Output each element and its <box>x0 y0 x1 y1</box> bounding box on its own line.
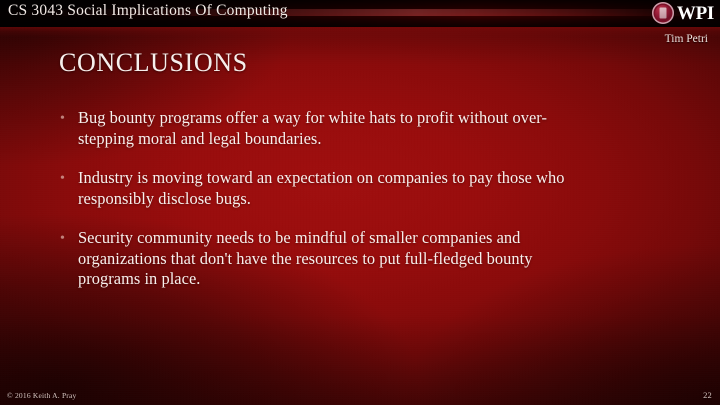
bullet-text: Industry is moving toward an expectation… <box>78 168 578 209</box>
list-item: • Security community needs to be mindful… <box>58 228 578 290</box>
wpi-logo: WPI <box>652 2 714 24</box>
slide-title: CONCLUSIONS <box>59 48 248 78</box>
bullet-text: Bug bounty programs offer a way for whit… <box>78 108 578 149</box>
course-title: CS 3043 Social Implications Of Computing <box>8 2 288 20</box>
bullet-list: • Bug bounty programs offer a way for wh… <box>58 108 578 309</box>
page-number: 22 <box>703 390 712 400</box>
list-item: • Industry is moving toward an expectati… <box>58 168 578 209</box>
wpi-seal-icon <box>652 2 674 24</box>
copyright-notice: © 2016 Keith A. Pray <box>7 391 77 400</box>
bullet-point-icon: • <box>58 228 78 249</box>
list-item: • Bug bounty programs offer a way for wh… <box>58 108 578 149</box>
bullet-text: Security community needs to be mindful o… <box>78 228 578 290</box>
wpi-wordmark: WPI <box>677 4 714 23</box>
presentation-slide: CS 3043 Social Implications Of Computing… <box>0 0 720 405</box>
bullet-point-icon: • <box>58 168 78 189</box>
bullet-point-icon: • <box>58 108 78 129</box>
presenter-name: Tim Petri <box>665 33 708 45</box>
